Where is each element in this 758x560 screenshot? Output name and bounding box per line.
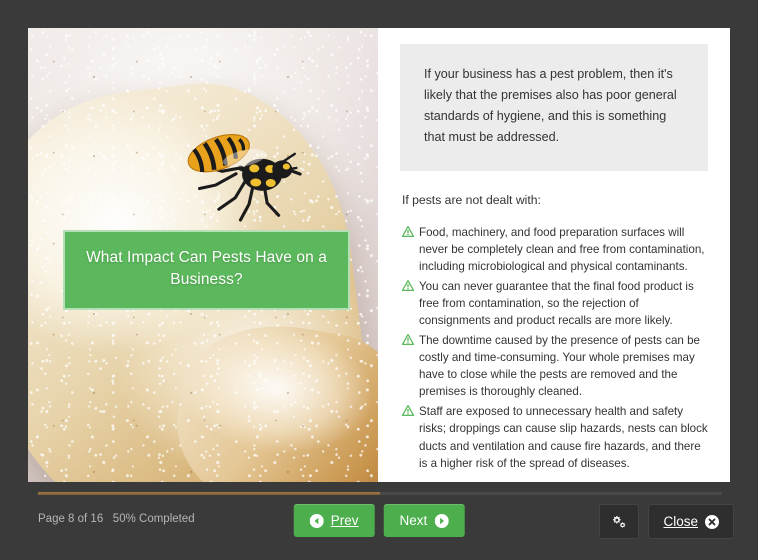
list-item: Staff are exposed to unnecessary health … xyxy=(402,403,708,471)
lead-in-text: If pests are not dealt with: xyxy=(402,191,708,211)
slide-footer: Page 8 of 16 50% Completed Prev Next xyxy=(0,500,758,560)
hazard-text: The downtime caused by the presence of p… xyxy=(419,334,700,398)
close-button[interactable]: Close xyxy=(648,504,734,539)
list-item: The downtime caused by the presence of p… xyxy=(402,332,708,400)
warning-triangle-icon xyxy=(402,334,414,345)
warning-triangle-icon xyxy=(402,405,414,416)
slide-text-panel: If your business has a pest problem, the… xyxy=(378,28,730,482)
callout-box: If your business has a pest problem, the… xyxy=(400,44,708,171)
course-progress-track xyxy=(38,492,722,495)
course-progress-fill xyxy=(38,492,380,495)
list-item: You can never guarantee that the final f… xyxy=(402,278,708,329)
wasp-icon xyxy=(174,122,310,231)
warning-triangle-icon xyxy=(402,280,414,291)
circle-left-arrow-icon xyxy=(310,514,324,528)
next-button-label: Next xyxy=(400,513,428,528)
circle-x-icon xyxy=(705,515,719,529)
circle-right-arrow-icon xyxy=(434,514,448,528)
slide-navigation: Prev Next xyxy=(294,504,465,537)
slide-title-banner: What Impact Can Pests Have on a Business… xyxy=(63,230,350,310)
slide-card: What Impact Can Pests Have on a Business… xyxy=(28,28,730,482)
hazard-text: Food, machinery, and food preparation su… xyxy=(419,226,705,273)
page-status-text: Page 8 of 16 50% Completed xyxy=(38,513,195,525)
gears-icon xyxy=(611,515,627,529)
slide-tools: Close xyxy=(599,504,734,539)
callout-text: If your business has a pest problem, the… xyxy=(424,64,684,149)
prev-button[interactable]: Prev xyxy=(294,504,375,537)
next-button[interactable]: Next xyxy=(384,504,465,537)
list-item: Food, machinery, and food preparation su… xyxy=(402,224,708,275)
hazard-list: Food, machinery, and food preparation su… xyxy=(402,224,708,471)
prev-button-label: Prev xyxy=(331,513,359,528)
hazard-text: Staff are exposed to unnecessary health … xyxy=(419,405,708,469)
warning-triangle-icon xyxy=(402,226,414,237)
slide-title: What Impact Can Pests Have on a Business… xyxy=(86,249,327,288)
settings-button[interactable] xyxy=(599,504,639,539)
hazard-text: You can never guarantee that the final f… xyxy=(419,280,694,327)
slide-image-panel: What Impact Can Pests Have on a Business… xyxy=(28,28,378,482)
close-button-label: Close xyxy=(663,514,698,529)
